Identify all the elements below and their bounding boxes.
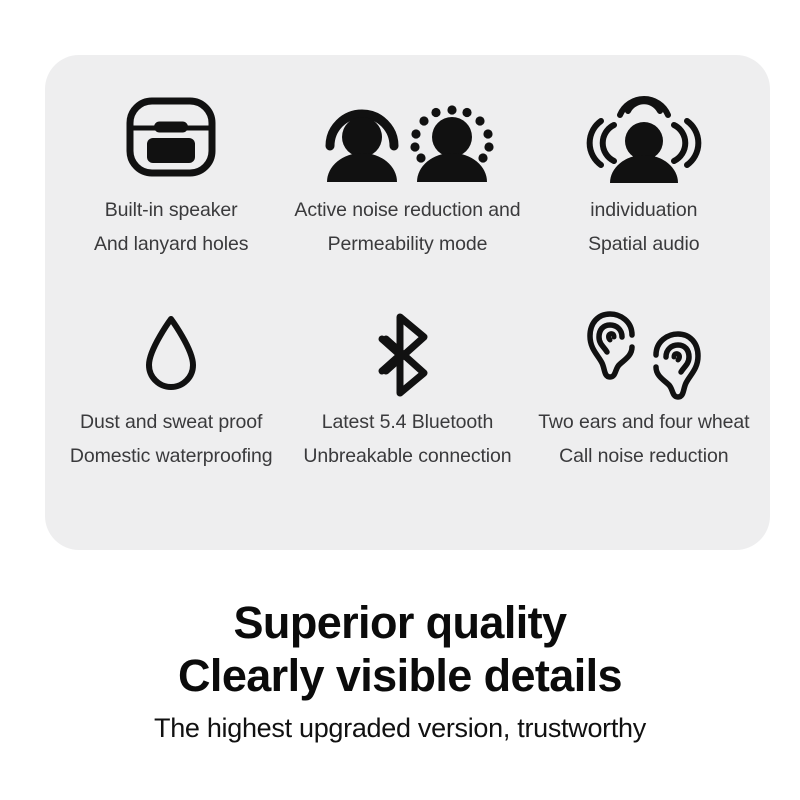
headline-line-2: Clearly visible details xyxy=(0,649,800,702)
two-ears-icon xyxy=(584,305,704,405)
feature-caption: Active noise reduction and Permeability … xyxy=(294,193,520,261)
feature-caption: Built-in speaker And lanyard holes xyxy=(94,193,248,261)
feature-caption-line1: Built-in speaker xyxy=(105,199,238,221)
feature-item-noise-reduction: Active noise reduction and Permeability … xyxy=(289,81,525,305)
feature-item-waterproof: Dust and sweat proof Domestic waterproof… xyxy=(53,305,289,529)
feature-item-bluetooth: Latest 5.4 Bluetooth Unbreakable connect… xyxy=(289,305,525,529)
person-solid-arc xyxy=(327,114,397,182)
person-dotted-arc xyxy=(411,105,494,182)
feature-caption: Two ears and four wheat Call noise reduc… xyxy=(538,405,749,473)
feature-item-two-ears: Two ears and four wheat Call noise reduc… xyxy=(526,305,762,529)
feature-caption-line2: And lanyard holes xyxy=(94,227,248,261)
feature-caption-line2: Domestic waterproofing xyxy=(70,439,273,473)
feature-caption: individuation Spatial audio xyxy=(588,193,699,261)
feature-caption-line1: Active noise reduction and xyxy=(294,199,520,221)
feature-caption: Latest 5.4 Bluetooth Unbreakable connect… xyxy=(303,405,511,473)
earbuds-case-icon xyxy=(123,81,219,193)
feature-caption-line1: Latest 5.4 Bluetooth xyxy=(322,411,493,433)
headline-line-1: Superior quality xyxy=(0,596,800,649)
feature-caption-line2: Spatial audio xyxy=(588,227,699,261)
feature-item-spatial-audio: individuation Spatial audio xyxy=(526,81,762,305)
bluetooth-icon xyxy=(374,305,440,405)
feature-grid: Built-in speaker And lanyard holes xyxy=(45,55,770,550)
feature-caption-line1: Dust and sweat proof xyxy=(80,411,262,433)
feature-caption-line1: Two ears and four wheat xyxy=(538,411,749,433)
anc-transparency-persons-icon xyxy=(314,81,500,193)
feature-caption-line1: individuation xyxy=(590,199,697,221)
feature-card: Built-in speaker And lanyard holes xyxy=(45,55,770,550)
feature-caption-line2: Unbreakable connection xyxy=(303,439,511,473)
water-drop-icon xyxy=(140,305,202,405)
feature-item-built-in-speaker: Built-in speaker And lanyard holes xyxy=(53,81,289,305)
spatial-audio-person-icon xyxy=(582,81,706,193)
feature-caption-line2: Call noise reduction xyxy=(538,439,749,473)
feature-caption: Dust and sweat proof Domestic waterproof… xyxy=(70,405,273,473)
headline-main: Superior quality Clearly visible details xyxy=(0,596,800,702)
feature-caption-line2: Permeability mode xyxy=(294,227,520,261)
promo-page: Built-in speaker And lanyard holes xyxy=(0,0,800,800)
headline-block: Superior quality Clearly visible details… xyxy=(0,596,800,744)
headline-subtitle: The highest upgraded version, trustworth… xyxy=(0,713,800,744)
